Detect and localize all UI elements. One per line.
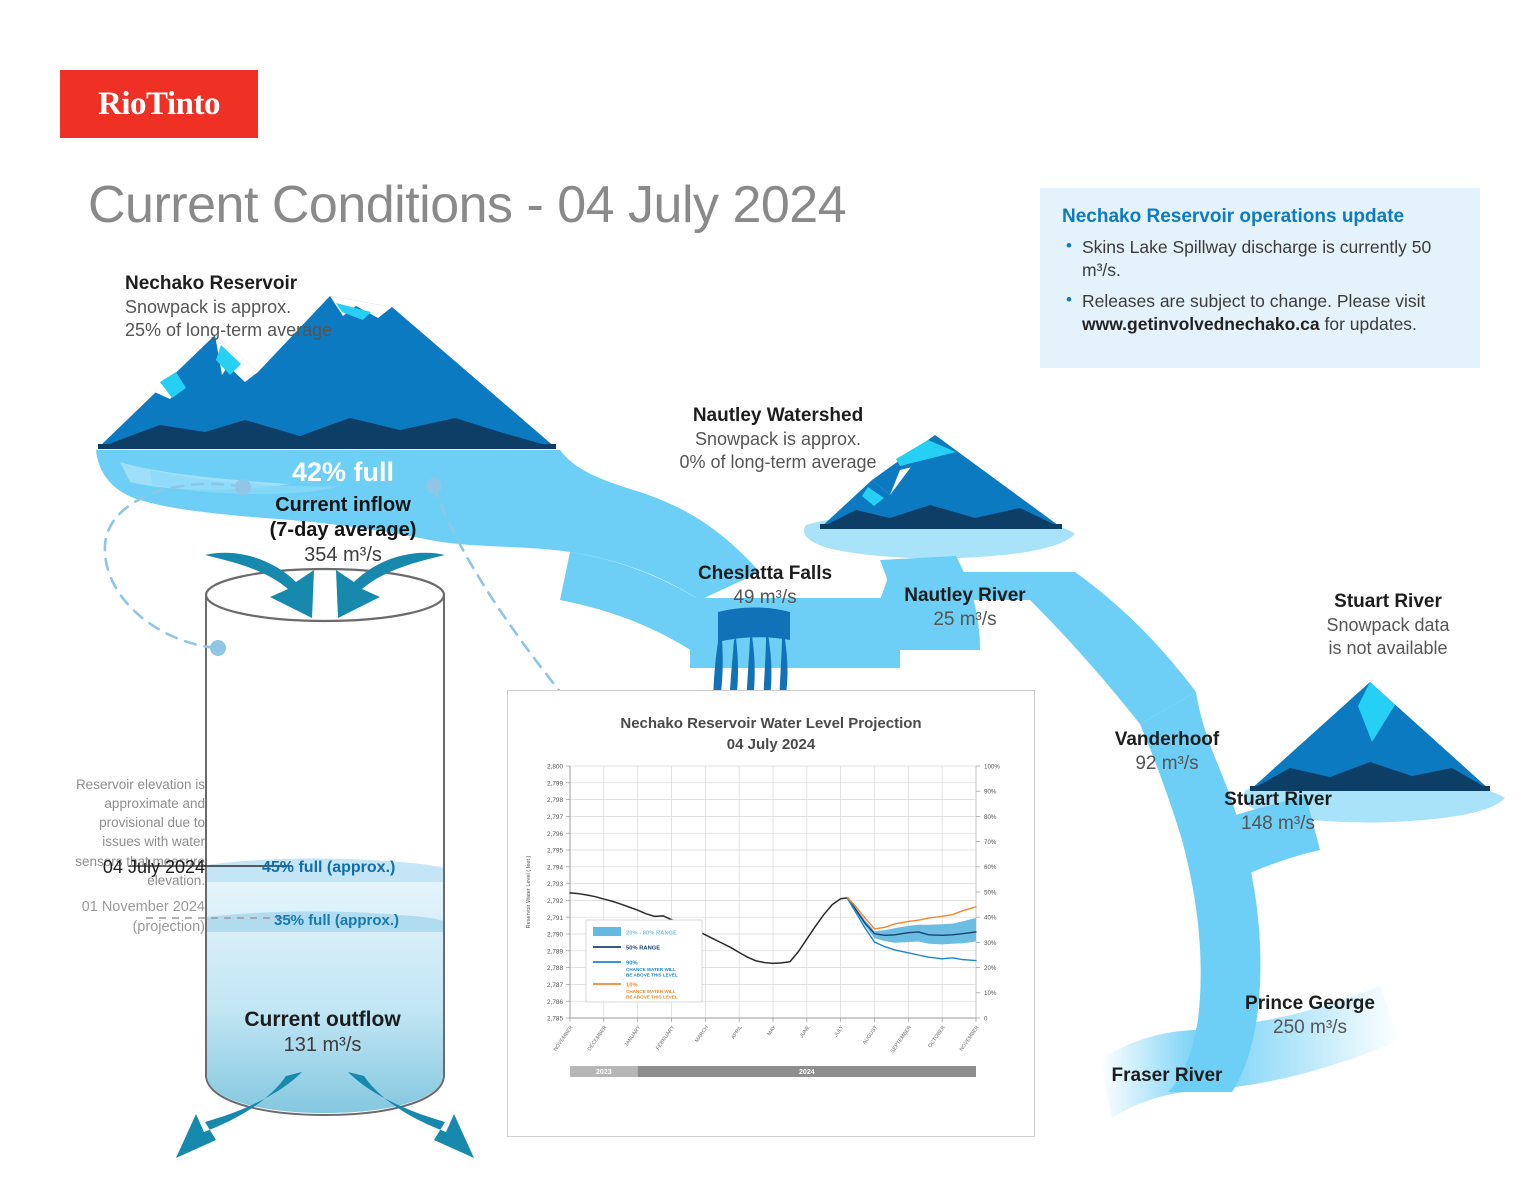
svg-text:2,797: 2,797 bbox=[547, 814, 563, 821]
stuart-mtn-line1: Snowpack data bbox=[1268, 614, 1508, 637]
ops-heading: Nechako Reservoir operations update bbox=[1062, 206, 1458, 228]
svg-text:APRIL: APRIL bbox=[730, 1024, 744, 1040]
nechako-line2: 25% of long-term average bbox=[125, 319, 425, 342]
svg-text:10%: 10% bbox=[626, 982, 638, 988]
ops-bullet-2: Releases are subject to change. Please v… bbox=[1062, 290, 1458, 337]
svg-text:2,791: 2,791 bbox=[547, 914, 563, 921]
nechako-title: Nechako Reservoir bbox=[125, 272, 425, 296]
tank-level-current: 45% full (approx.) bbox=[262, 859, 395, 877]
flow-value-stuart: 148 m³/s bbox=[1153, 812, 1403, 836]
ops-bullet-1: Skins Lake Spillway discharge is current… bbox=[1062, 236, 1458, 283]
mountain-stuart bbox=[1250, 682, 1490, 791]
flow-name-fraser: Fraser River bbox=[1052, 1064, 1282, 1088]
water-level-chart-card: Nechako Reservoir Water Level Projection… bbox=[507, 690, 1035, 1137]
inflow-label-1: Current inflow bbox=[218, 493, 468, 518]
svg-text:BE ABOVE THIS LEVEL: BE ABOVE THIS LEVEL bbox=[626, 994, 678, 999]
outflow-arrows bbox=[176, 1072, 474, 1158]
chart-svg: 2,7852,7862,7872,7882,7892,7902,7912,792… bbox=[508, 756, 1036, 1128]
svg-text:2,800: 2,800 bbox=[547, 763, 563, 770]
svg-text:2024: 2024 bbox=[799, 1069, 815, 1076]
label-prince-george: Prince George 250 m³/s bbox=[1185, 992, 1435, 1041]
inflow-value: 354 m³/s bbox=[218, 544, 468, 567]
svg-text:90%: 90% bbox=[626, 960, 638, 966]
flow-value-nautley: 25 m³/s bbox=[835, 608, 1095, 632]
current-inflow-block: Current inflow (7-day average) 354 m³/s bbox=[218, 493, 468, 567]
chart-plot-container: 2,7852,7862,7872,7882,7892,7902,7912,792… bbox=[508, 756, 1036, 1128]
svg-text:BE ABOVE THIS LEVEL: BE ABOVE THIS LEVEL bbox=[626, 972, 678, 977]
tank-rim bbox=[206, 569, 444, 621]
svg-text:2,787: 2,787 bbox=[547, 982, 563, 989]
svg-text:NOVEMBER: NOVEMBER bbox=[959, 1024, 981, 1052]
svg-text:2,789: 2,789 bbox=[547, 948, 563, 955]
ops-bullet-list: Skins Lake Spillway discharge is current… bbox=[1062, 236, 1458, 337]
svg-text:OCTOBER: OCTOBER bbox=[927, 1024, 947, 1049]
tank-level-projection: 35% full (approx.) bbox=[274, 912, 399, 929]
label-nautley-river: Nautley River 25 m³/s bbox=[835, 584, 1095, 633]
svg-text:2,785: 2,785 bbox=[547, 1015, 563, 1022]
flow-name-stuart: Stuart River bbox=[1153, 788, 1403, 812]
svg-text:JULY: JULY bbox=[833, 1024, 845, 1038]
flow-name-nautley: Nautley River bbox=[835, 584, 1095, 608]
svg-text:30%: 30% bbox=[984, 939, 997, 946]
svg-text:50% RANGE: 50% RANGE bbox=[626, 945, 660, 951]
page-title: Current Conditions - 04 July 2024 bbox=[88, 175, 846, 235]
label-stuart-river: Stuart River 148 m³/s bbox=[1153, 788, 1403, 837]
svg-text:90%: 90% bbox=[984, 788, 997, 795]
outflow-label: Current outflow bbox=[205, 1008, 440, 1032]
svg-text:NOVEMBER: NOVEMBER bbox=[553, 1024, 575, 1052]
label-vanderhoof: Vanderhoof 92 m³/s bbox=[1052, 728, 1282, 777]
svg-text:MARCH: MARCH bbox=[694, 1024, 710, 1043]
svg-text:Reservoir Water Level ( feet ): Reservoir Water Level ( feet ) bbox=[526, 855, 532, 928]
svg-text:2,786: 2,786 bbox=[547, 998, 563, 1005]
svg-text:100%: 100% bbox=[984, 763, 1000, 770]
svg-text:JUNE: JUNE bbox=[799, 1024, 812, 1039]
ops-link[interactable]: www.getinvolvednechako.ca bbox=[1082, 314, 1320, 334]
chart-title: Nechako Reservoir Water Level Projection bbox=[508, 713, 1034, 734]
flow-name-vanderhoof: Vanderhoof bbox=[1052, 728, 1282, 752]
stuart-mtn-title: Stuart River bbox=[1268, 590, 1508, 614]
svg-text:FEBRUARY: FEBRUARY bbox=[655, 1024, 676, 1051]
nautley-title: Nautley Watershed bbox=[628, 404, 928, 428]
svg-text:70%: 70% bbox=[984, 839, 997, 846]
svg-text:MAY: MAY bbox=[766, 1024, 777, 1037]
tank-date-projection-line1: 01 November 2024 bbox=[35, 898, 205, 918]
ops-bullet-2-post: for updates. bbox=[1320, 314, 1417, 334]
riotinto-logo: RioTinto bbox=[60, 70, 258, 138]
svg-text:2,788: 2,788 bbox=[547, 965, 563, 972]
svg-text:60%: 60% bbox=[984, 864, 997, 871]
flow-value-vanderhoof: 92 m³/s bbox=[1052, 752, 1282, 776]
svg-text:2,799: 2,799 bbox=[547, 780, 563, 787]
connector-dot-tank bbox=[210, 640, 226, 656]
logo-text: RioTinto bbox=[98, 86, 220, 123]
svg-text:JANUARY: JANUARY bbox=[624, 1024, 643, 1048]
svg-text:2,794: 2,794 bbox=[547, 864, 563, 871]
svg-text:2,793: 2,793 bbox=[547, 881, 563, 888]
svg-text:80%: 80% bbox=[984, 813, 997, 820]
svg-text:AUGUST: AUGUST bbox=[862, 1024, 880, 1046]
nautley-line2: 0% of long-term average bbox=[628, 451, 928, 474]
current-outflow-block: Current outflow 131 m³/s bbox=[205, 1008, 440, 1057]
svg-text:10%: 10% bbox=[984, 990, 997, 997]
svg-text:CHANCE WATER WILL: CHANCE WATER WILL bbox=[626, 989, 676, 994]
nautley-line1: Snowpack is approx. bbox=[628, 428, 928, 451]
outflow-value: 131 m³/s bbox=[205, 1034, 440, 1057]
label-fraser-river: Fraser River bbox=[1052, 1064, 1282, 1088]
tank-date-projection: 01 November 2024 (projection) bbox=[35, 898, 205, 937]
svg-text:SEPTEMBER: SEPTEMBER bbox=[890, 1024, 913, 1054]
label-nautley-watershed: Nautley Watershed Snowpack is approx. 0%… bbox=[628, 404, 928, 474]
inflow-label-2: (7-day average) bbox=[218, 518, 468, 543]
ops-bullet-2-pre: Releases are subject to change. Please v… bbox=[1082, 291, 1425, 311]
svg-text:20% - 80% RANGE: 20% - 80% RANGE bbox=[626, 930, 677, 936]
svg-text:20%: 20% bbox=[984, 965, 997, 972]
svg-text:CHANCE WATER WILL: CHANCE WATER WILL bbox=[626, 967, 676, 972]
chart-title-block: Nechako Reservoir Water Level Projection… bbox=[508, 713, 1034, 756]
flow-value-pg: 250 m³/s bbox=[1185, 1016, 1435, 1040]
svg-text:2023: 2023 bbox=[596, 1069, 612, 1076]
percent-full-badge: 42% full bbox=[218, 457, 468, 488]
stuart-mtn-line2: is not available bbox=[1268, 637, 1508, 660]
svg-text:2,792: 2,792 bbox=[547, 898, 563, 905]
tank-date-current: 04 July 2024 bbox=[55, 857, 205, 878]
nautley-lake bbox=[804, 513, 1075, 558]
operations-update-box: Nechako Reservoir operations update Skin… bbox=[1040, 188, 1480, 368]
tank-date-projection-line2: (projection) bbox=[35, 918, 205, 938]
nechako-line1: Snowpack is approx. bbox=[125, 296, 425, 319]
flow-name-cheslatta: Cheslatta Falls bbox=[640, 562, 890, 586]
tank-water bbox=[200, 866, 450, 1126]
label-stuart-snowpack: Stuart River Snowpack data is not availa… bbox=[1268, 590, 1508, 660]
chart-subtitle: 04 July 2024 bbox=[508, 734, 1034, 755]
flow-name-pg: Prince George bbox=[1185, 992, 1435, 1016]
svg-text:2,790: 2,790 bbox=[547, 931, 563, 938]
label-nechako-reservoir: Nechako Reservoir Snowpack is approx. 25… bbox=[125, 272, 425, 342]
svg-text:0: 0 bbox=[984, 1015, 988, 1022]
svg-text:2,795: 2,795 bbox=[547, 847, 563, 854]
svg-text:40%: 40% bbox=[984, 914, 997, 921]
svg-text:50%: 50% bbox=[984, 889, 997, 896]
svg-text:2,798: 2,798 bbox=[547, 797, 563, 804]
svg-text:DECEMBER: DECEMBER bbox=[587, 1024, 609, 1052]
svg-text:2,796: 2,796 bbox=[547, 830, 563, 837]
